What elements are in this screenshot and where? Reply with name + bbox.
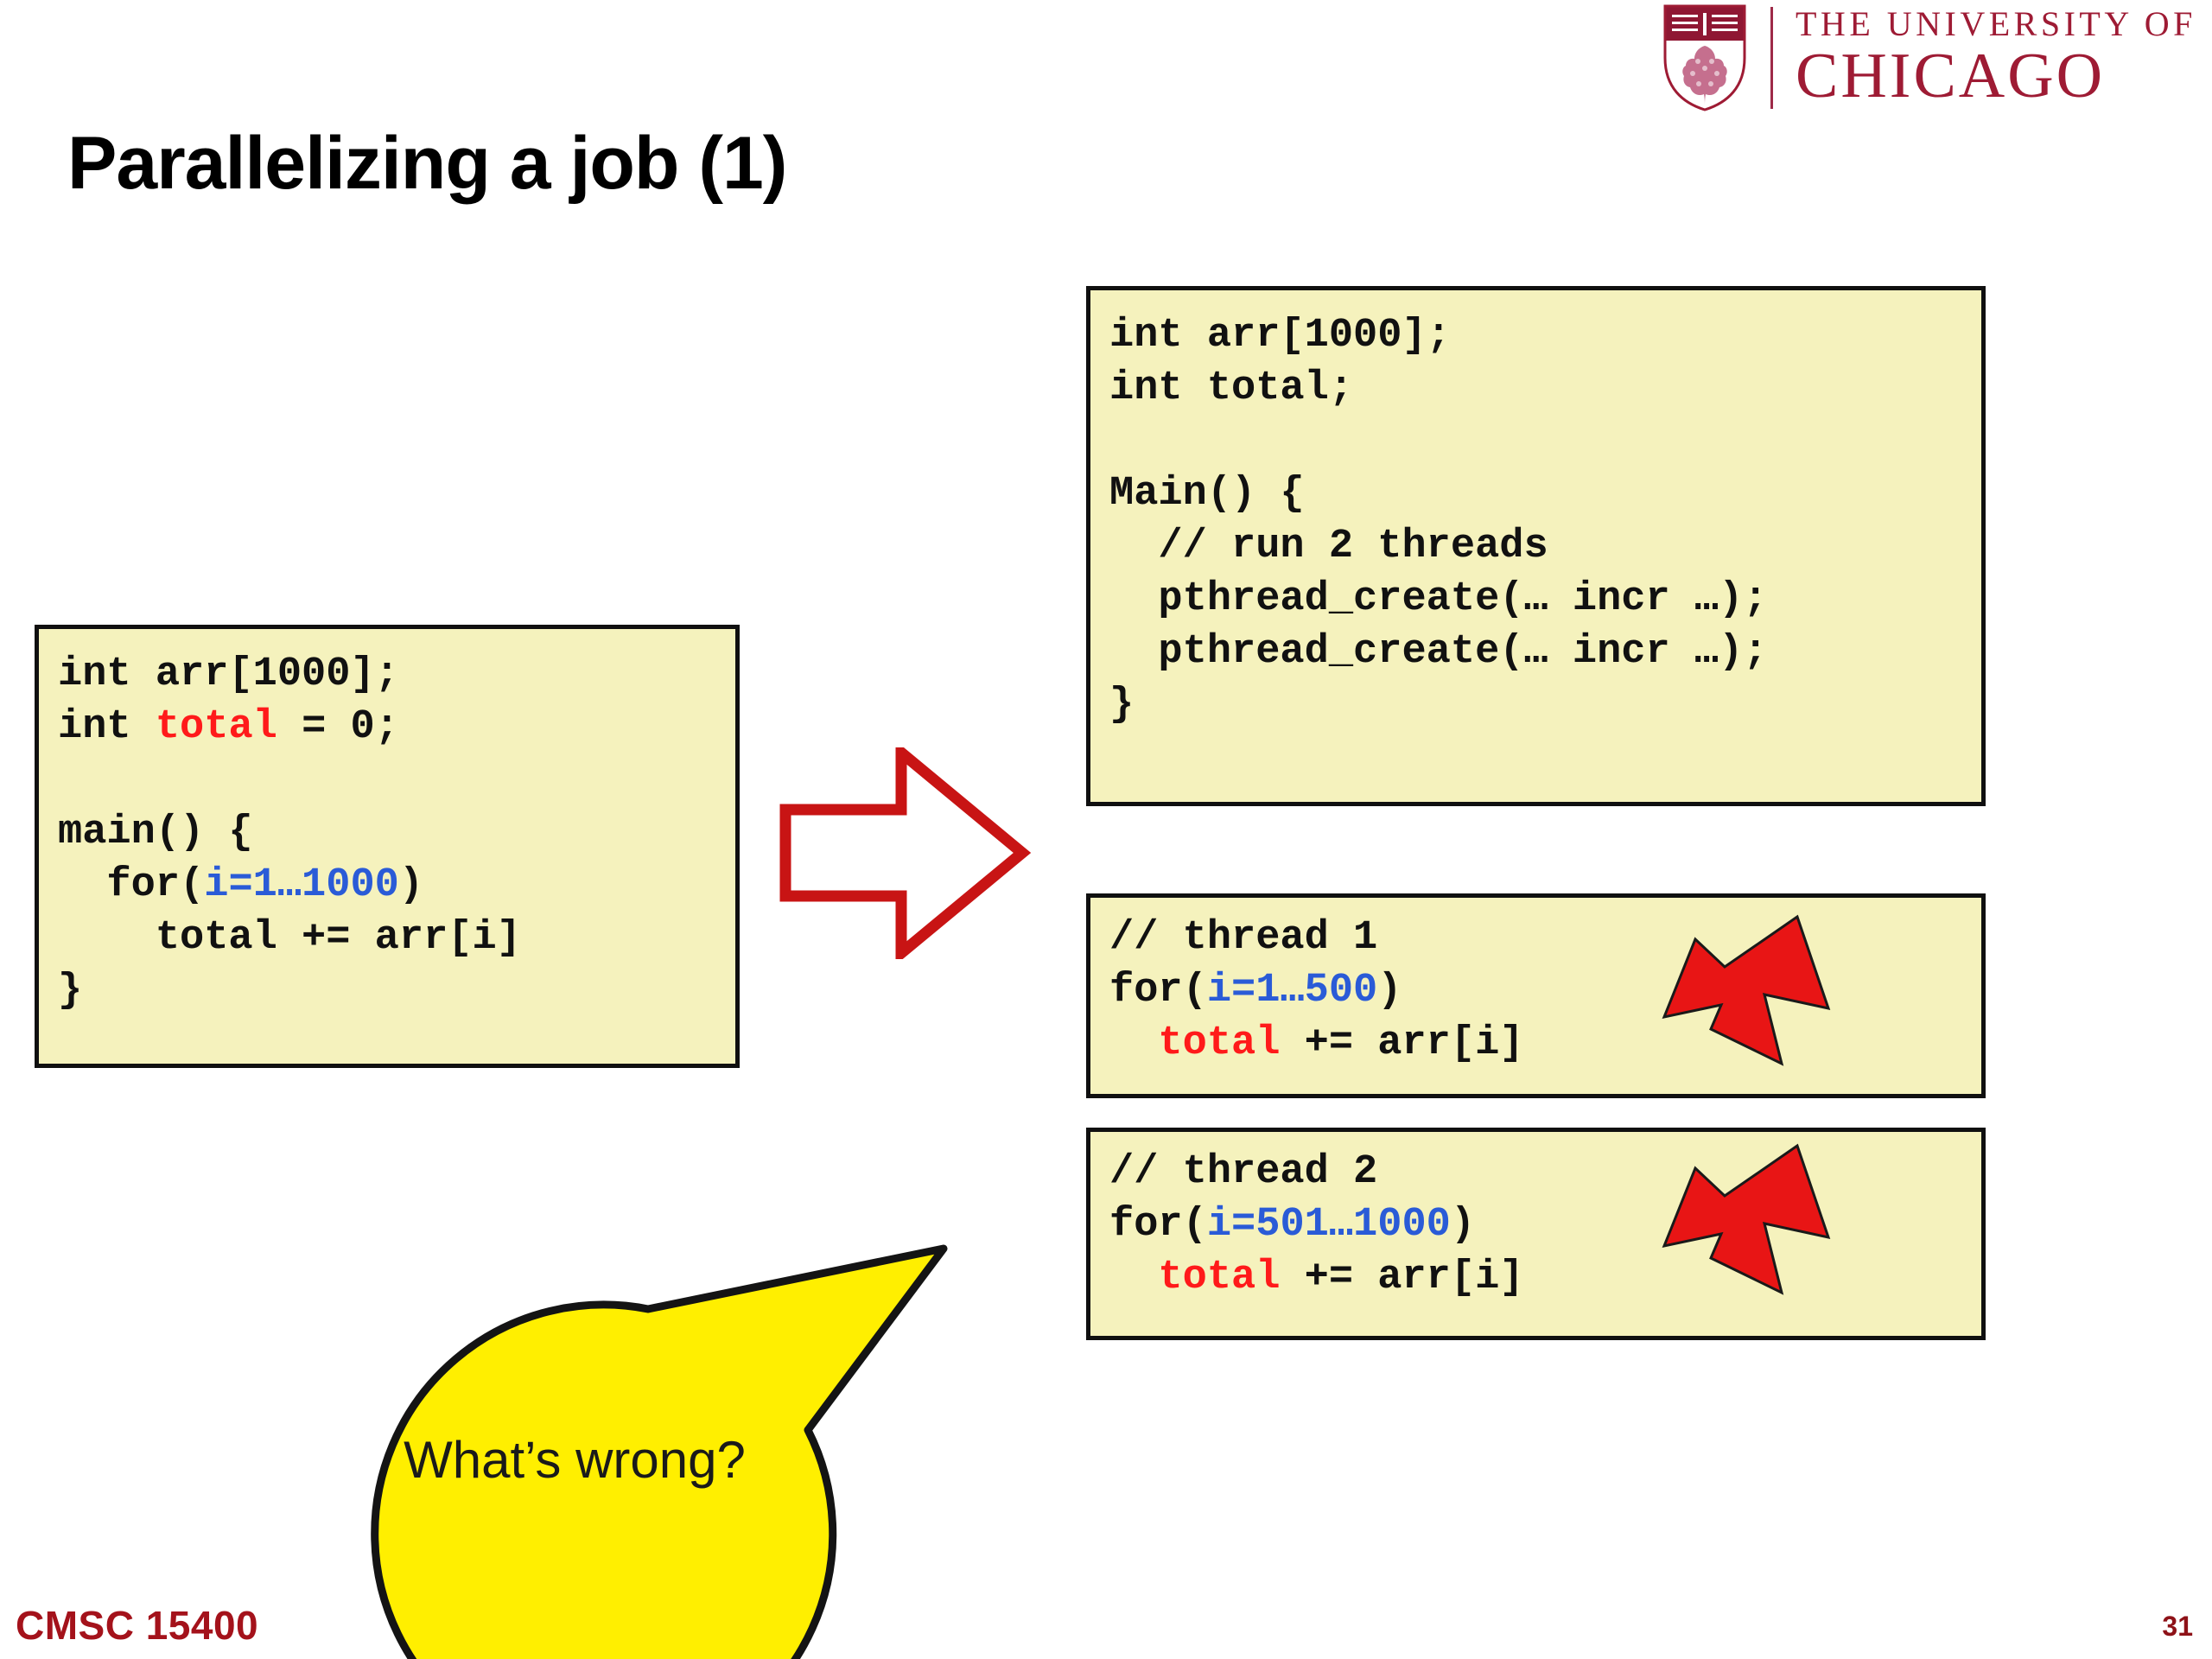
code-box-sequential-main: int arr[1000];int total = 0; main() { fo… (35, 625, 740, 1068)
code-line: Main() { (1109, 467, 1981, 520)
slide-canvas: THE UNIVERSITY OF CHICAGO Parallelizing … (0, 0, 2212, 1659)
logo-line-university: THE UNIVERSITY OF (1796, 7, 2196, 41)
code-segment: for( (58, 862, 204, 908)
code-segment: for( (1109, 1202, 1207, 1248)
uchicago-crest-icon (1663, 4, 1746, 111)
code-line: int arr[1000]; (58, 648, 735, 701)
code-segment: i=501…1000 (1207, 1202, 1451, 1248)
code-segment: total (1158, 1255, 1280, 1300)
code-line: int total = 0; (58, 701, 735, 753)
code-segment: total (1158, 1020, 1280, 1066)
code-segment: int (58, 704, 156, 750)
speech-bubble (242, 1227, 976, 1659)
code-line: // thread 1 (1109, 912, 1981, 964)
slide-title: Parallelizing a job (1) (67, 121, 786, 207)
code-line: int total; (1109, 362, 1981, 415)
code-segment: pthread_create(… incr …); (1109, 576, 1768, 622)
code-segment: pthread_create(… incr …); (1109, 629, 1768, 675)
code-segment: += arr[i] (1280, 1020, 1523, 1066)
code-segment: total (156, 704, 277, 750)
code-segment (1109, 1020, 1158, 1066)
code-segment: += arr[i] (1280, 1255, 1523, 1300)
code-segment: ) (1377, 968, 1402, 1014)
logo-line-chicago: CHICAGO (1796, 43, 2196, 110)
code-line: pthread_create(… incr …); (1109, 626, 1981, 678)
code-segment: // thread 1 (1109, 915, 1377, 961)
code-segment: int arr[1000]; (1109, 313, 1451, 359)
code-line: for(i=501…1000) (1109, 1198, 1981, 1251)
logo-wordmark: THE UNIVERSITY OF CHICAGO (1796, 7, 2196, 110)
code-segment: = 0; (277, 704, 399, 750)
code-segment: total += arr[i] (58, 915, 521, 961)
code-box-parallel-main: int arr[1000];int total; Main() { // run… (1086, 286, 1986, 806)
transform-arrow-icon (773, 747, 1033, 959)
race-condition-arrow-thread-1-icon (1659, 912, 1832, 1076)
code-line: // run 2 threads (1109, 520, 1981, 573)
code-segment: // run 2 threads (1109, 524, 1548, 569)
code-segment: } (58, 968, 82, 1014)
code-line: } (58, 964, 735, 1017)
code-segment: i=1…500 (1207, 968, 1377, 1014)
code-line: int arr[1000]; (1109, 309, 1981, 362)
code-line: total += arr[i] (1109, 1251, 1981, 1304)
code-line: pthread_create(… incr …); (1109, 573, 1981, 626)
code-line: main() { (58, 806, 735, 859)
code-box-thread-2: // thread 2for(i=501…1000) total += arr[… (1086, 1128, 1986, 1340)
code-segment: int total; (1109, 365, 1353, 411)
code-line: // thread 2 (1109, 1146, 1981, 1198)
code-line (58, 753, 735, 806)
code-line: total += arr[i] (1109, 1017, 1981, 1070)
code-segment: // thread 2 (1109, 1149, 1377, 1195)
code-segment: for( (1109, 968, 1207, 1014)
code-segment: Main() { (1109, 471, 1305, 517)
code-line: total += arr[i] (58, 912, 735, 964)
code-line: } (1109, 678, 1981, 731)
code-segment: int arr[1000]; (58, 652, 399, 697)
logo-divider (1770, 7, 1773, 109)
code-line: for(i=1…500) (1109, 964, 1981, 1017)
code-line (1109, 415, 1981, 467)
code-segment (1109, 1255, 1158, 1300)
footer-course-label: CMSC 15400 (16, 1602, 258, 1649)
university-logo: THE UNIVERSITY OF CHICAGO (1663, 2, 2212, 114)
footer-page-number: 31 (2162, 1611, 2193, 1643)
code-segment: i=1…1000 (204, 862, 399, 908)
code-box-thread-1: // thread 1for(i=1…500) total += arr[i] (1086, 893, 1986, 1098)
code-segment: ) (399, 862, 423, 908)
code-segment: } (1109, 682, 1134, 728)
code-line: for(i=1…1000) (58, 859, 735, 912)
code-segment: main() { (58, 810, 253, 855)
code-segment: ) (1451, 1202, 1475, 1248)
race-condition-arrow-thread-2-icon (1659, 1141, 1832, 1305)
